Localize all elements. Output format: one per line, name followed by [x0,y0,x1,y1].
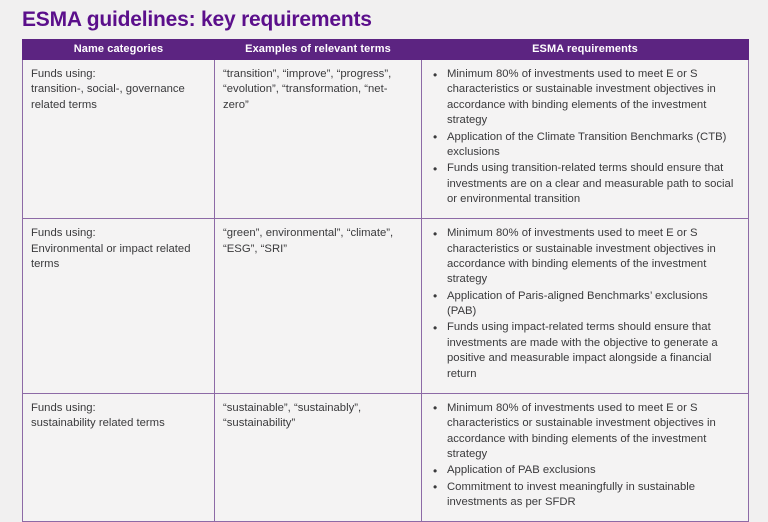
slide-page: ESMA guidelines: key requirements Name c… [0,0,768,471]
cell-name-category: Funds using: sustainability related term… [23,393,215,522]
examples-text: “green”, environmental”, “climate”, “ESG… [223,226,413,257]
table-row: Funds using: sustainability related term… [23,393,749,522]
table-header-row: Name categories Examples of relevant ter… [23,40,749,60]
esma-requirements-table-container: Name categories Examples of relevant ter… [22,39,748,454]
category-line-1: Funds using: [31,226,206,241]
requirement-text: Funds using impact-related terms should … [447,320,740,381]
category-line-2: Environmental or impact related terms [31,242,206,273]
column-header-esma-requirements: ESMA requirements [422,40,749,60]
cell-esma-requirements: • Minimum 80% of investments used to mee… [422,393,749,522]
esma-requirements-table: Name categories Examples of relevant ter… [22,39,749,522]
column-header-examples: Examples of relevant terms [215,40,422,60]
bullet-icon: • [433,479,437,495]
list-item: • Funds using impact-related terms shoul… [430,320,740,381]
bullet-icon: • [433,463,437,479]
bullet-icon: • [433,400,437,416]
cell-examples: “transition”, “improve”, “progress”, “ev… [215,60,422,219]
list-item: • Minimum 80% of investments used to mee… [430,67,740,128]
list-item: • Application of Paris-aligned Benchmark… [430,289,740,320]
requirement-text: Application of the Climate Transition Be… [447,130,740,161]
list-item: • Minimum 80% of investments used to mee… [430,226,740,287]
list-item: • Commitment to invest meaningfully in s… [430,480,740,511]
requirement-text: Funds using transition-related terms sho… [447,161,740,207]
requirement-text: Minimum 80% of investments used to meet … [447,67,740,128]
requirements-list: • Minimum 80% of investments used to mee… [430,401,740,511]
page-title: ESMA guidelines: key requirements [22,8,372,32]
cell-examples: “sustainable”, “sustainably”, “sustainab… [215,393,422,522]
bullet-icon: • [433,226,437,242]
category-line-2: transition-, social-, governance related… [31,82,206,113]
cell-examples: “green”, environmental”, “climate”, “ESG… [215,219,422,394]
list-item: • Minimum 80% of investments used to mee… [430,401,740,462]
category-line-1: Funds using: [31,67,206,82]
requirements-list: • Minimum 80% of investments used to mee… [430,226,740,382]
category-line-1: Funds using: [31,401,206,416]
list-item: • Application of PAB exclusions [430,463,740,478]
list-item: • Application of the Climate Transition … [430,130,740,161]
category-line-2: sustainability related terms [31,416,206,431]
list-item: • Funds using transition-related terms s… [430,161,740,207]
requirement-text: Minimum 80% of investments used to meet … [447,226,740,287]
cell-esma-requirements: • Minimum 80% of investments used to mee… [422,219,749,394]
bullet-icon: • [433,129,437,145]
bullet-icon: • [433,161,437,177]
bullet-icon: • [433,320,437,336]
cell-name-category: Funds using: transition-, social-, gover… [23,60,215,219]
column-header-name-categories: Name categories [23,40,215,60]
examples-text: “transition”, “improve”, “progress”, “ev… [223,67,413,113]
requirement-text: Commitment to invest meaningfully in sus… [447,480,740,511]
examples-text: “sustainable”, “sustainably”, “sustainab… [223,401,413,432]
requirement-text: Application of PAB exclusions [447,463,740,478]
table-header: Name categories Examples of relevant ter… [23,40,749,60]
requirement-text: Minimum 80% of investments used to meet … [447,401,740,462]
cell-name-category: Funds using: Environmental or impact rel… [23,219,215,394]
requirements-list: • Minimum 80% of investments used to mee… [430,67,740,207]
table-body: Funds using: transition-, social-, gover… [23,60,749,522]
bullet-icon: • [433,67,437,83]
table-row: Funds using: Environmental or impact rel… [23,219,749,394]
requirement-text: Application of Paris-aligned Benchmarks’… [447,289,740,320]
bullet-icon: • [433,288,437,304]
table-row: Funds using: transition-, social-, gover… [23,60,749,219]
cell-esma-requirements: • Minimum 80% of investments used to mee… [422,60,749,219]
